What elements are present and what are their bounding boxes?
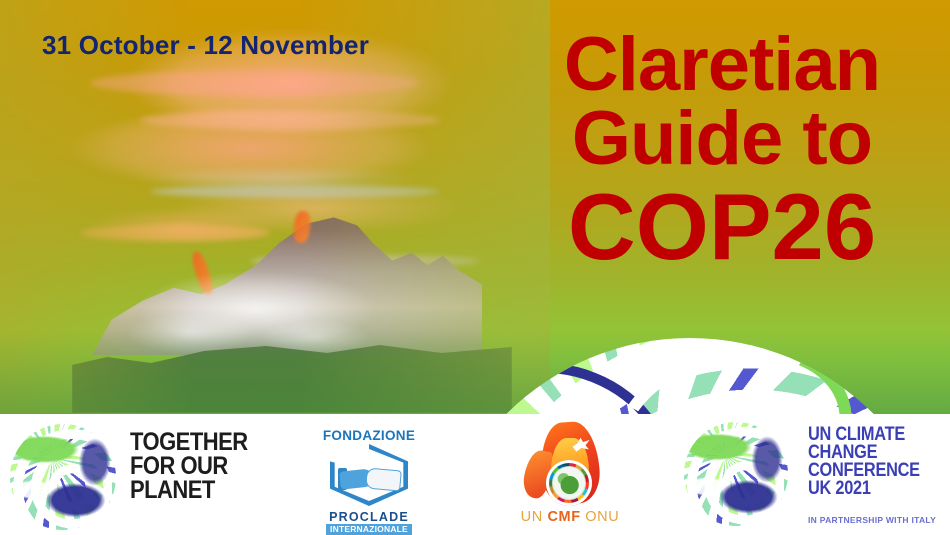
proclade-fondazione-label: FONDAZIONE [314, 428, 424, 443]
unccc-partnership-label: IN PARTNERSHIP WITH ITALY [808, 515, 936, 525]
title-line-3: COP26 [512, 181, 932, 273]
marbled-globe-icon [684, 422, 788, 526]
tfop-line-2: FOR OUR [130, 454, 248, 478]
logo-bar: TOGETHER FOR OUR PLANET FONDAZIONE PROCL… [0, 414, 950, 535]
unccc-line-3: CONFERENCE [808, 462, 920, 480]
hand-right [365, 468, 402, 492]
title-line-2: Guide to [512, 102, 932, 176]
logo-un-climate-change-conference: UN CLIMATE CHANGE CONFERENCE UK 2021 IN … [680, 414, 948, 535]
logo-un-cmf-onu: UN CMF ONU [505, 414, 635, 535]
unccc-line-4: UK 2021 [808, 480, 920, 498]
handshake-hexagon-icon [330, 444, 408, 506]
tfop-line-3: PLANET [130, 478, 248, 502]
cmf-wordmark: UN CMF ONU [505, 509, 635, 525]
tfop-line-1: TOGETHER [130, 430, 248, 454]
title-line-1: Claretian [512, 28, 932, 102]
date-range: 31 October - 12 November [42, 30, 369, 61]
logo-fondazione-proclade: FONDAZIONE PROCLADE INTERNAZIONALE ONLUS [314, 414, 424, 535]
cmf-label: CMF [547, 509, 580, 525]
tfop-wordmark: TOGETHER FOR OUR PLANET [130, 430, 248, 502]
cmf-un-label: UN [521, 509, 548, 525]
page-title: Claretian Guide to COP26 [512, 28, 932, 273]
proclade-sublabel: INTERNAZIONALE ONLUS [326, 524, 412, 535]
proclade-label: PROCLADE [314, 510, 424, 524]
cop26-poster: 31 October - 12 November Claretian Guide… [0, 0, 950, 535]
marbled-globe-icon [10, 424, 116, 530]
unccc-wordmark: UN CLIMATE CHANGE CONFERENCE UK 2021 [808, 426, 920, 497]
cmf-onu-label: ONU [581, 509, 620, 525]
sdg-globe-icon [546, 460, 592, 506]
logo-together-for-our-planet: TOGETHER FOR OUR PLANET [4, 414, 304, 535]
